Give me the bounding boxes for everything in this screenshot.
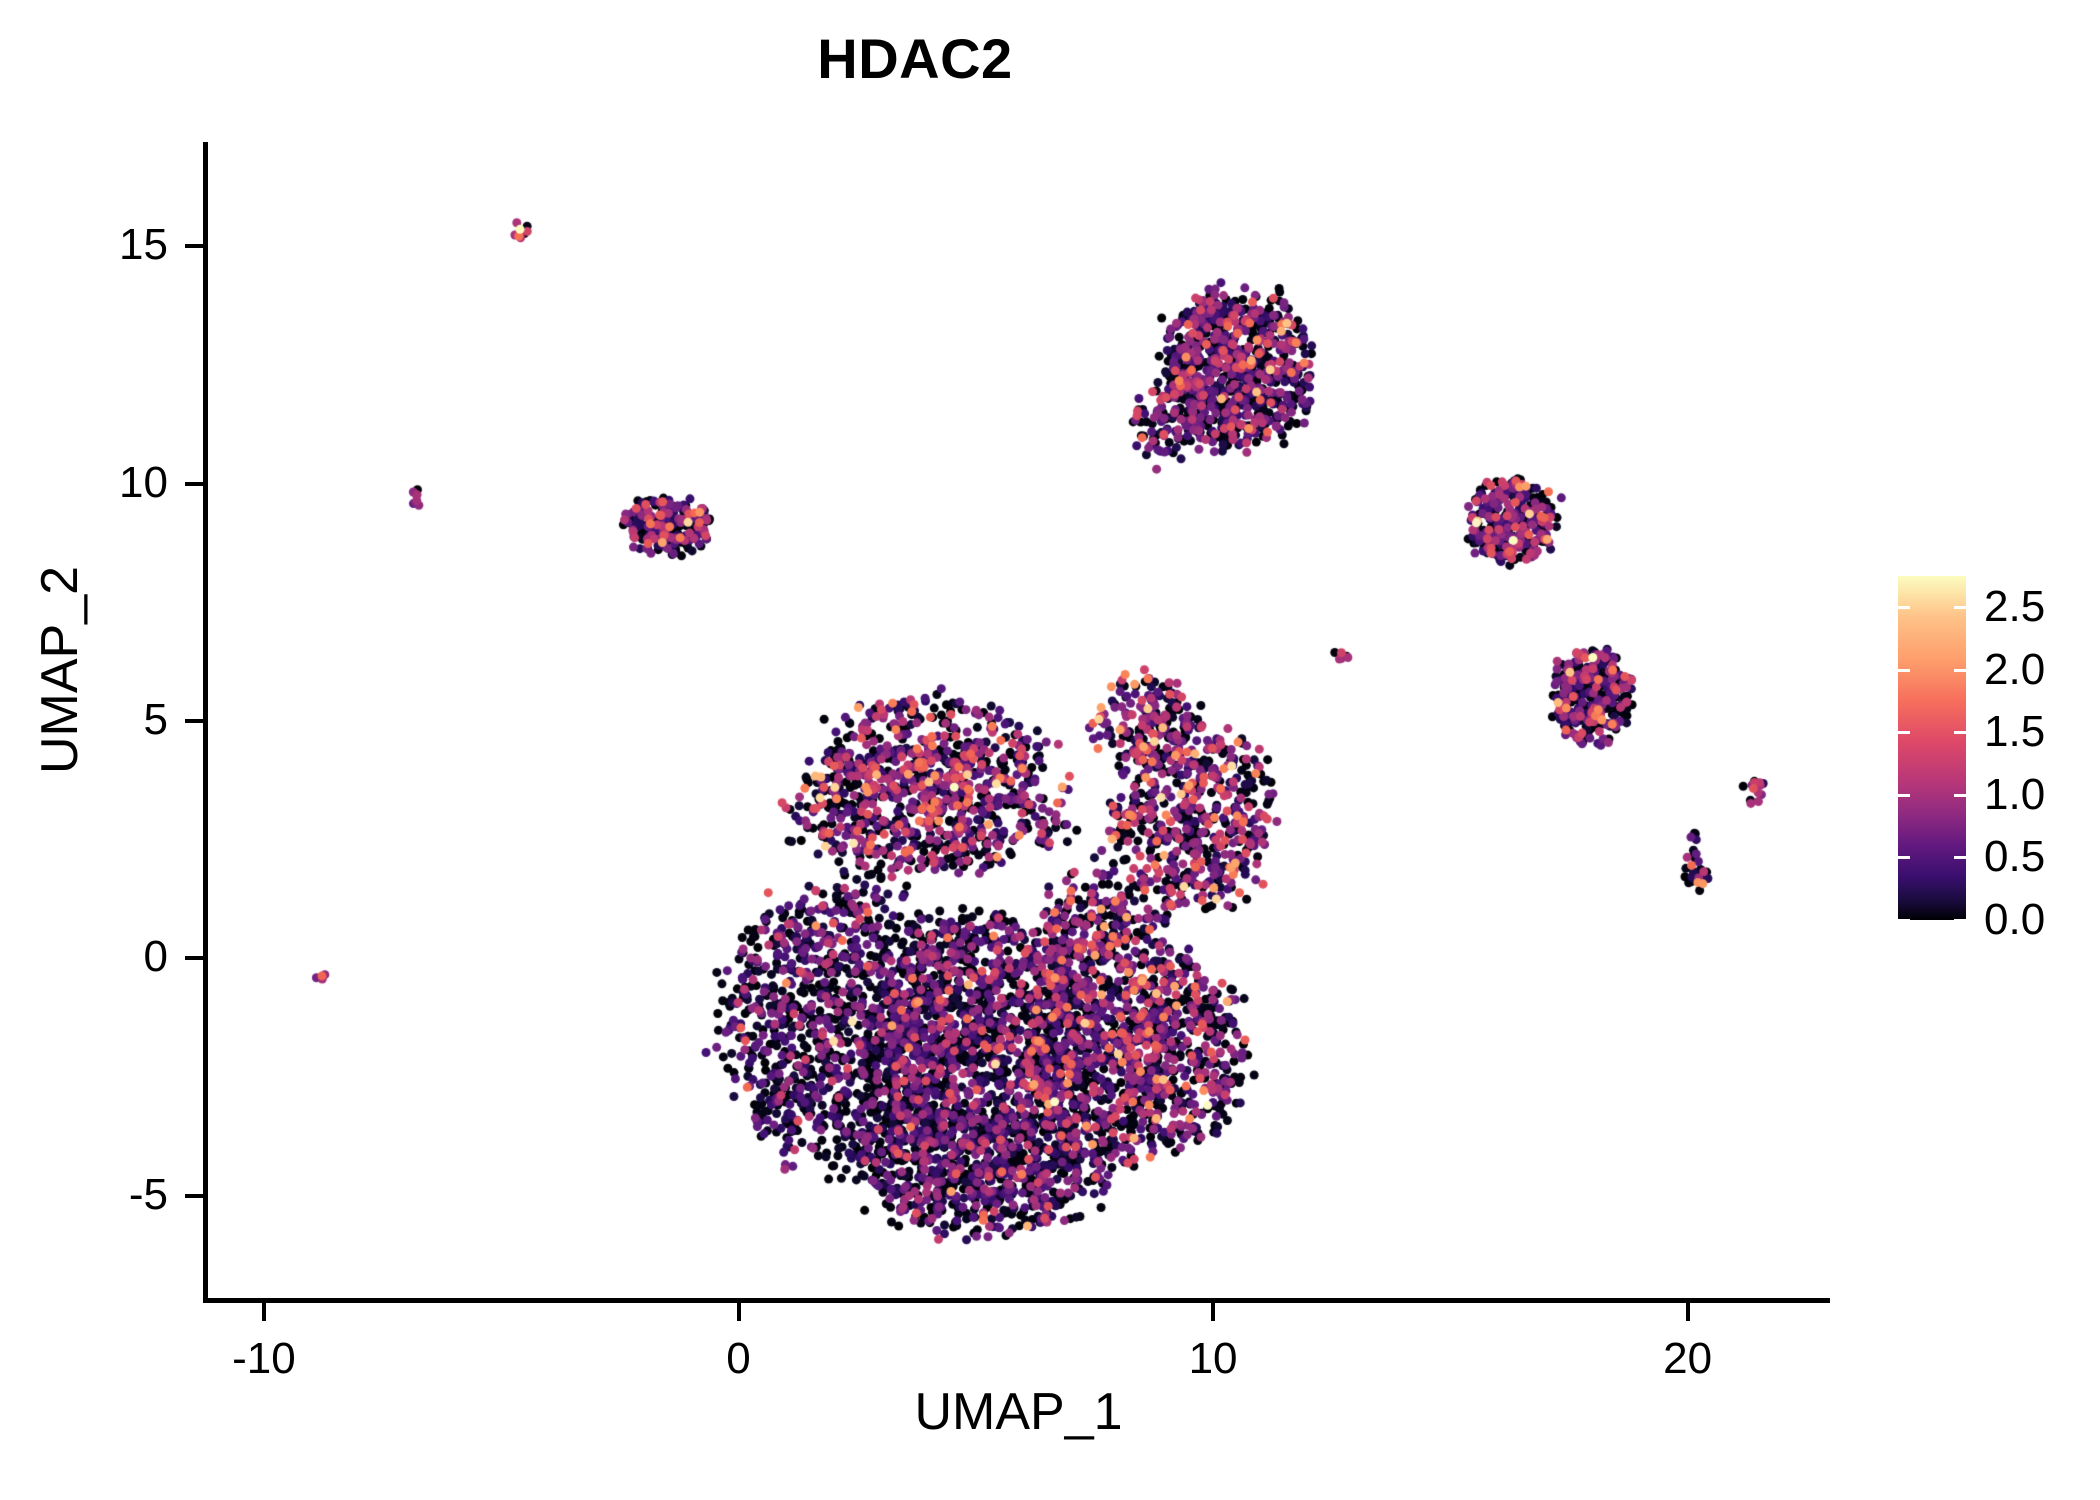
x-axis-title: UMAP_1 xyxy=(207,1382,1830,1442)
colorbar-label: 2.0 xyxy=(1984,648,2045,692)
plot-panel xyxy=(207,142,1830,1300)
x-tick-label: 10 xyxy=(1113,1334,1313,1384)
y-tick-5 xyxy=(185,719,203,723)
colorbar-tick xyxy=(1898,856,1966,859)
color-legend: 2.52.01.51.00.50.0 xyxy=(1898,576,2088,920)
y-tick-0 xyxy=(185,956,203,960)
scatter-plot-canvas xyxy=(207,142,1830,1300)
y-tick-15 xyxy=(185,244,203,248)
colorbar-label: 0.0 xyxy=(1984,898,2045,942)
colorbar-tick xyxy=(1898,731,1966,734)
colorbar-label: 2.5 xyxy=(1984,585,2045,629)
x-tick-label: -10 xyxy=(164,1334,364,1384)
colorbar-tick xyxy=(1898,919,1966,922)
x-axis-line xyxy=(203,1298,1830,1303)
y-tick--5 xyxy=(185,1194,203,1198)
page-title: HDAC2 xyxy=(0,26,1830,91)
y-tick-10 xyxy=(185,482,203,486)
x-tick-0 xyxy=(737,1303,741,1321)
colorbar-label: 1.5 xyxy=(1984,710,2045,754)
y-axis-title: UMAP_2 xyxy=(30,90,90,1250)
colorbar-tick xyxy=(1898,606,1966,609)
umap-feature-plot: HDAC2 -5051015 -1001020 UMAP_1 UMAP_2 2.… xyxy=(0,0,2100,1500)
y-axis-line xyxy=(203,142,208,1303)
x-tick-label: 20 xyxy=(1588,1334,1788,1384)
colorbar-gradient xyxy=(1898,576,1966,920)
x-tick-20 xyxy=(1686,1303,1690,1321)
x-tick-label: 0 xyxy=(639,1334,839,1384)
x-tick--10 xyxy=(262,1303,266,1321)
colorbar-tick xyxy=(1898,794,1966,797)
colorbar-label: 1.0 xyxy=(1984,773,2045,817)
colorbar-tick xyxy=(1898,669,1966,672)
x-tick-10 xyxy=(1211,1303,1215,1321)
colorbar-label: 0.5 xyxy=(1984,835,2045,879)
